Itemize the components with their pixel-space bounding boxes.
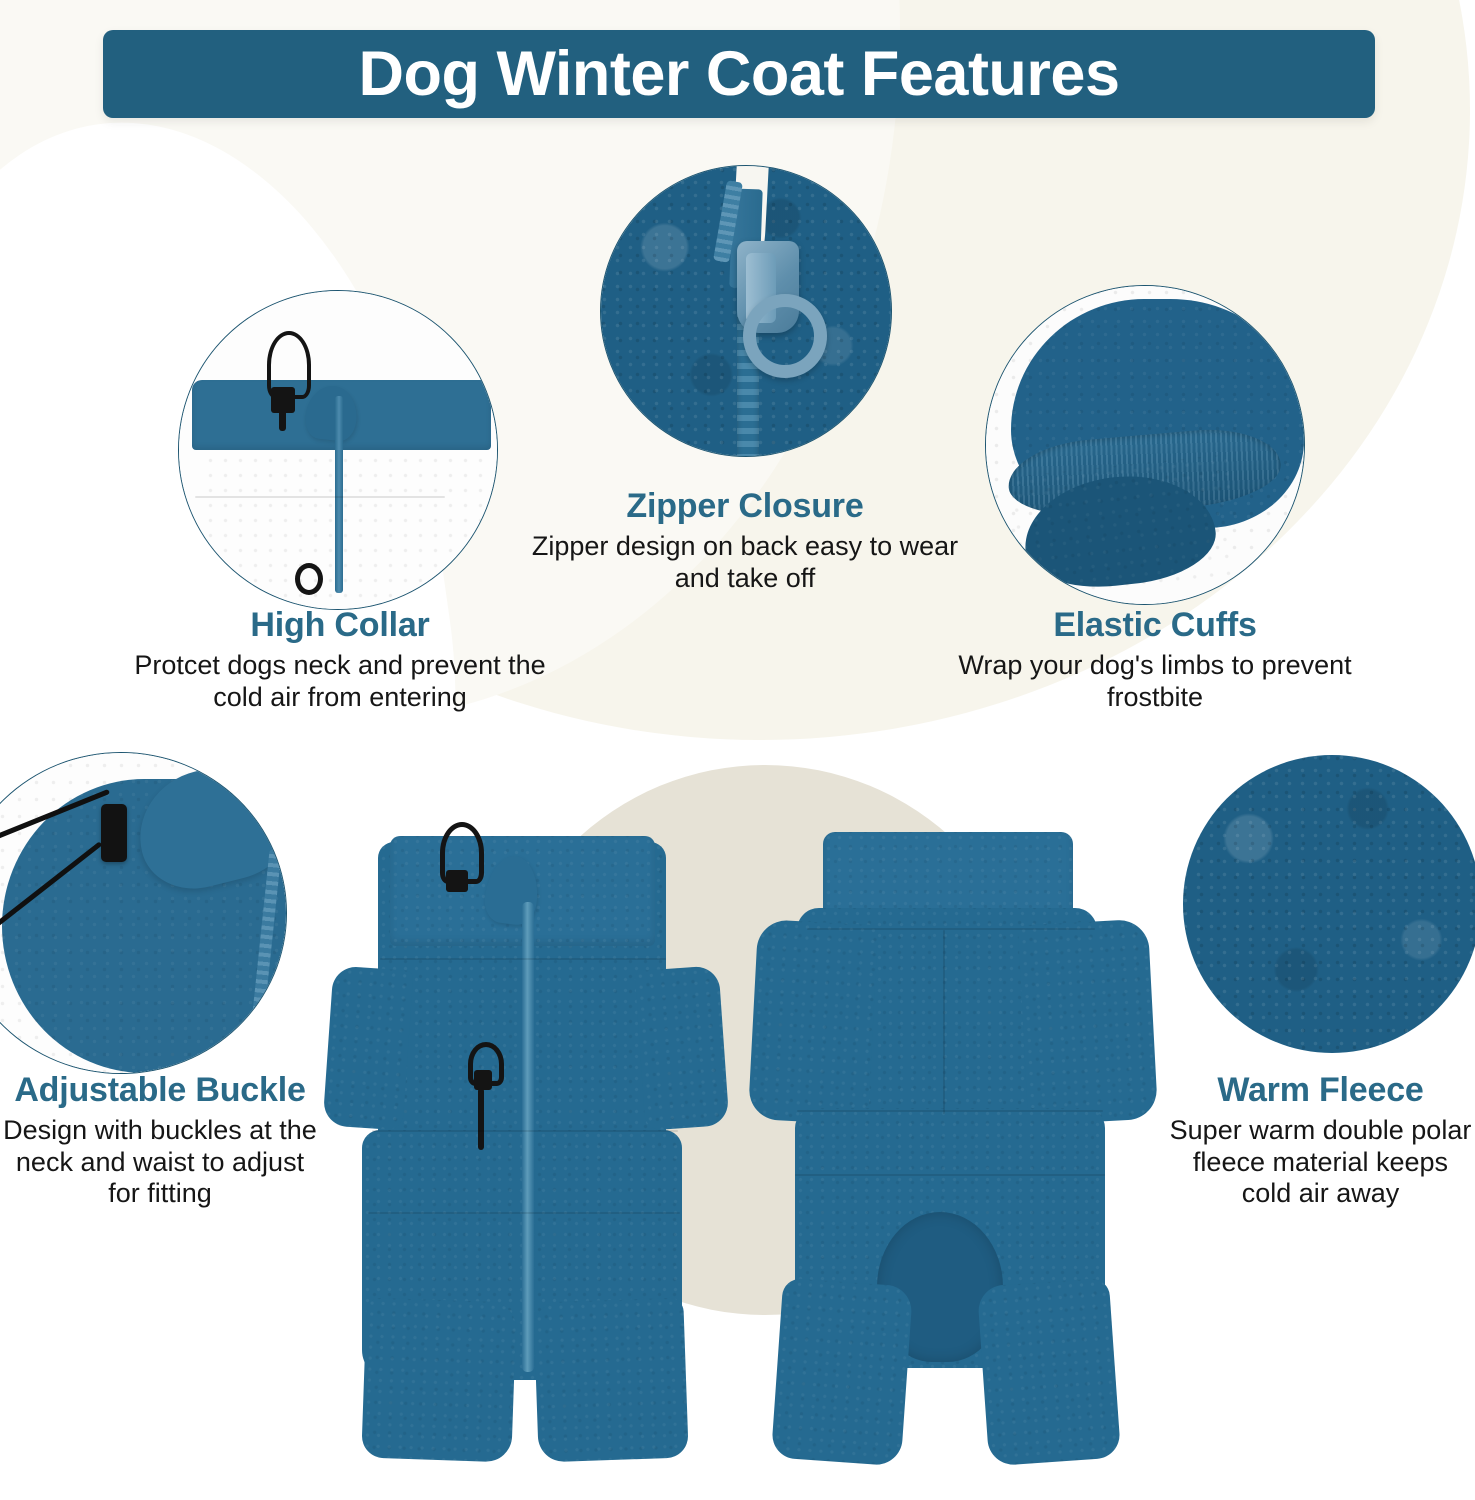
zipper-pull-ring xyxy=(743,294,827,378)
front-hip-seam xyxy=(368,1212,680,1214)
adjustable-buckle-photo xyxy=(0,752,287,1074)
feature-label-high-collar: High Collar Protcet dogs neck and preven… xyxy=(110,607,570,713)
front-waist-cord-toggle xyxy=(474,1070,492,1090)
dog-coat-front-view xyxy=(300,830,750,1470)
buckle-cord-lock xyxy=(101,804,127,862)
back-left-hind-leg xyxy=(771,1278,913,1467)
feature-description: Zipper design on back easy to wear and t… xyxy=(520,531,970,594)
back-waist-seam xyxy=(797,1110,1103,1112)
title-banner: Dog Winter Coat Features xyxy=(103,30,1375,118)
feature-label-zipper-closure: Zipper Closure Zipper design on back eas… xyxy=(520,488,970,594)
front-chest-seam xyxy=(380,958,666,960)
collar-seam-line xyxy=(195,496,445,498)
feature-description: Design with buckles at the neck and wais… xyxy=(0,1115,320,1209)
zipper-closure-photo xyxy=(600,165,892,457)
warm-fleece-swatch xyxy=(1183,755,1475,1053)
feature-description: Wrap your dog's limbs to prevent frostbi… xyxy=(930,650,1380,713)
back-yoke-seam xyxy=(807,928,1095,930)
feature-description: Protcet dogs neck and prevent the cold a… xyxy=(110,650,570,713)
feature-title: Warm Fleece xyxy=(1168,1072,1473,1109)
feature-title: Zipper Closure xyxy=(520,488,970,525)
feature-label-adjustable-buckle: Adjustable Buckle Design with buckles at… xyxy=(0,1072,320,1209)
elastic-cuffs-photo xyxy=(985,285,1305,605)
page-title: Dog Winter Coat Features xyxy=(358,43,1119,106)
cuff-inner-fold xyxy=(1019,467,1220,594)
feature-label-warm-fleece: Warm Fleece Super warm double polar flee… xyxy=(1168,1072,1473,1209)
collar-cord-tail xyxy=(279,409,286,431)
infographic-canvas: Dog Winter Coat Features xyxy=(0,0,1475,1500)
front-waist-seam xyxy=(372,1130,678,1132)
collar-lower-grommet xyxy=(295,563,323,595)
collar-zipper xyxy=(335,396,343,593)
front-left-hind-leg xyxy=(361,1297,516,1462)
back-right-sleeve xyxy=(1018,919,1158,1126)
front-right-sleeve xyxy=(635,965,730,1130)
warm-fleece-photo xyxy=(1183,755,1475,1053)
front-left-sleeve xyxy=(323,965,414,1130)
feature-title: High Collar xyxy=(110,607,570,644)
high-collar-photo xyxy=(178,290,498,610)
back-left-sleeve xyxy=(748,919,878,1125)
feature-title: Adjustable Buckle xyxy=(0,1072,320,1109)
dog-coat-back-view xyxy=(745,822,1165,1472)
feature-description: Super warm double polar fleece material … xyxy=(1168,1115,1473,1209)
feature-label-elastic-cuffs: Elastic Cuffs Wrap your dog's limbs to p… xyxy=(930,607,1380,713)
front-waist-cord-tail xyxy=(478,1088,484,1150)
back-center-seam xyxy=(943,930,945,1114)
back-hip-seam xyxy=(795,1174,1105,1176)
back-right-hind-leg xyxy=(977,1278,1121,1467)
front-center-zipper xyxy=(522,902,534,1372)
feature-title: Elastic Cuffs xyxy=(930,607,1380,644)
front-right-hind-leg xyxy=(533,1297,688,1462)
front-collar-cord-toggle xyxy=(446,870,468,892)
